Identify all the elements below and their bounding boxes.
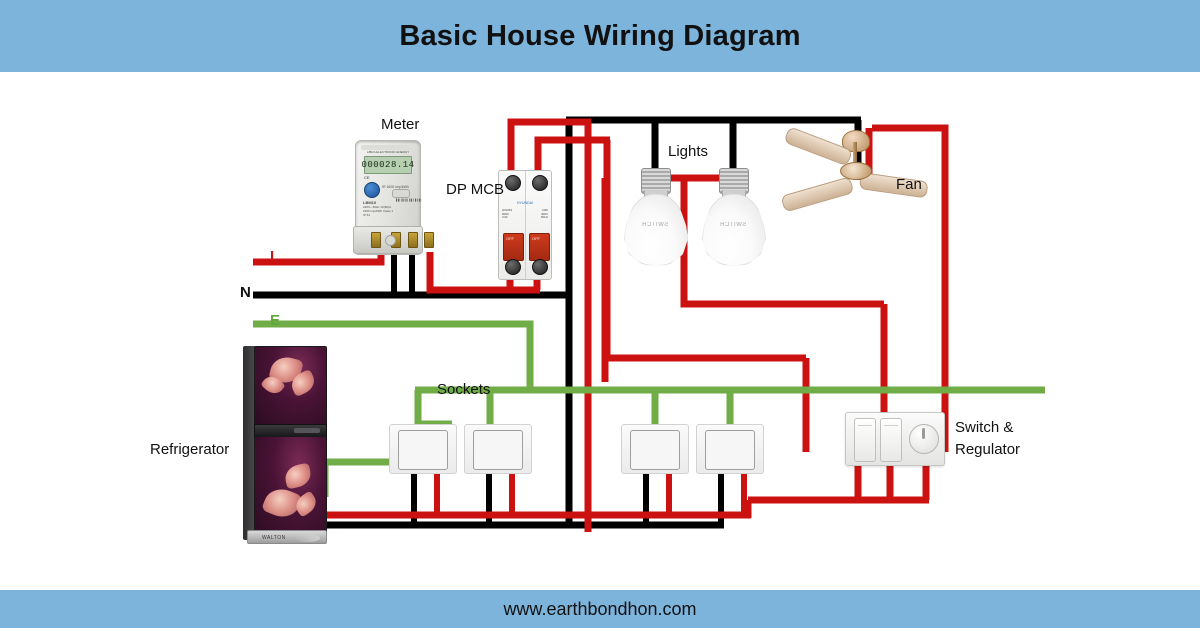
meter-terminal-1 [371,232,381,248]
meter-rating-3: IP 54 [363,213,370,217]
mcb-toggle-right[interactable]: OFF [529,233,550,261]
wiring-diagram-page: Basic House Wiring Diagram [0,0,1200,628]
socket-1-face [398,430,448,470]
meter-optical-port [392,189,410,198]
label-line-L: L [270,248,279,265]
socket-3[interactable] [621,424,689,474]
label-dp-mcb: DP MCB [446,181,504,198]
fan-blade-1 [783,126,853,166]
bulb-1-brand: SWITCH [624,222,686,228]
fan-regulator-knob[interactable] [909,424,939,454]
footer-website-url: www.earthbondhon.com [503,599,696,620]
fridge-brand-logo: WALTON [262,535,286,541]
mcb-toggle-left-label: OFF [506,236,514,241]
socket-4[interactable] [696,424,764,474]
bulb-2-brand: SWITCH [702,222,764,228]
mcb-terminal-bottom-right [532,259,548,275]
mcb-toggle-right-label: OFF [532,236,540,241]
mcb-toggle-left[interactable]: OFF [503,233,524,261]
label-fan: Fan [896,176,922,193]
meter-terminal-4 [424,232,434,248]
dp-mcb: HYUNDAI HGD636000C32 230/400V50Hz OFF OF… [498,170,552,280]
fridge-freezer-door[interactable] [254,346,327,426]
mcb-body: HYUNDAI HGD636000C32 230/400V50Hz OFF OF… [498,170,552,280]
bulb-2-glass [702,194,766,266]
socket-3-face [630,430,680,470]
meter-model-text: LBM10 240V~ 50Hz 10(60)A 1600 imp/kWh Cl… [363,201,397,217]
label-lights: Lights [668,143,708,160]
label-refrigerator: Refrigerator [150,441,229,458]
label-neutral-N: N [240,284,251,301]
mcb-terminal-top-left [505,175,521,191]
wiring-svg [0,72,1200,590]
meter-button[interactable] [364,182,380,198]
label-switch-regulator-line1: Switch & [955,419,1013,436]
meter-barcode: ▌▌▎▌▍▌▎▌▌▎▌▍▌▎ [396,199,414,229]
mcb-spec-right: 230/400V50Hz [528,209,548,220]
socket-4-face [705,430,755,470]
socket-1[interactable] [389,424,457,474]
footer-band: www.earthbondhon.com [0,590,1200,628]
fan-blade-2 [780,176,854,212]
wire-live-mcb-top-a [511,122,591,176]
diagram-canvas: LIBRA ELECTRONIC ENERGY METER 000028.14 … [0,72,1200,590]
mcb-terminal-top-right [532,175,548,191]
header-band: Basic House Wiring Diagram [0,0,1200,72]
switch-rocker-1[interactable] [854,418,876,462]
mcb-brand-text: HYUNDAI [501,201,549,206]
ceiling-fan [790,120,920,230]
fridge-swoosh-decor [294,534,320,542]
meter-brand-text: LIBRA ELECTRONIC ENERGY METER [362,150,414,155]
label-earth-E: E [270,312,280,329]
fridge-main-door[interactable] [254,436,327,542]
light-bulb-2: SWITCH [702,168,764,264]
fridge-decor-petal [283,463,313,490]
meter-body: LIBRA ELECTRONIC ENERGY METER 000028.14 … [355,140,421,255]
light-bulb-1: SWITCH [624,168,686,264]
energy-meter: LIBRA ELECTRONIC ENERGY METER 000028.14 … [355,140,421,255]
switch-rocker-2[interactable] [880,418,902,462]
label-sockets: Sockets [437,381,490,398]
label-switch-regulator-line2: Regulator [955,441,1020,458]
label-meter: Meter [381,116,419,133]
mcb-spec-left: HGD636000C32 [502,209,522,220]
mcb-terminal-bottom-left [505,259,521,275]
socket-2-face [473,430,523,470]
socket-2[interactable] [464,424,532,474]
bulb-1-glass [624,194,688,266]
meter-certification-mark: CE [364,175,370,180]
meter-lcd-display: 000028.14 [364,156,412,174]
mcb-pole-divider [525,171,526,279]
page-title: Basic House Wiring Diagram [399,20,800,53]
refrigerator: WALTON [243,344,325,544]
meter-terminal-3 [408,232,418,248]
switch-regulator-plate [845,412,945,466]
fan-motor-hub [840,162,872,180]
fridge-base: WALTON [247,530,327,544]
meter-seal [385,235,396,246]
fan-down-rod [853,142,857,164]
